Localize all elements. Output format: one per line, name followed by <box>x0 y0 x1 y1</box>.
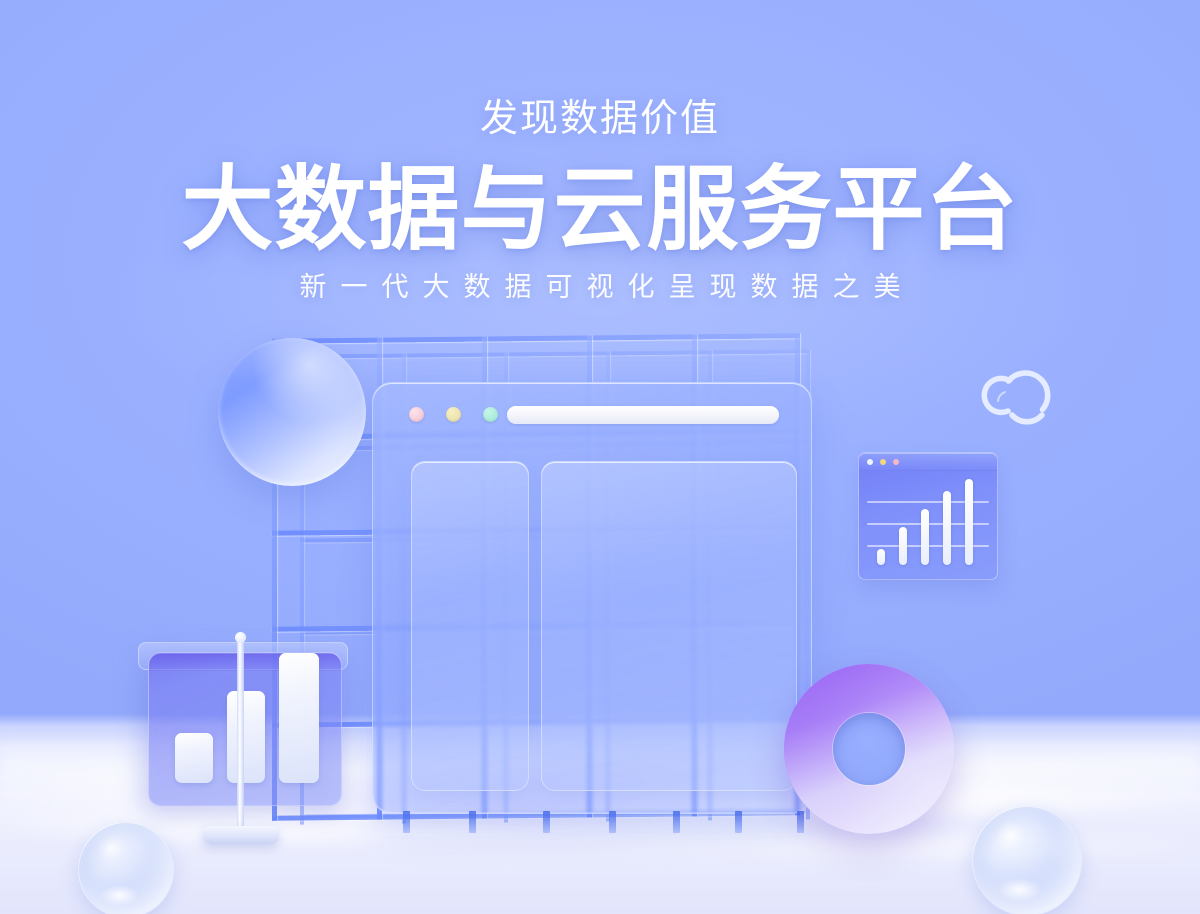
white-dot[interactable] <box>867 459 873 465</box>
sphere-highlight <box>997 878 1042 902</box>
chart-bar <box>877 549 885 565</box>
glass-sphere-left <box>78 822 174 914</box>
sidebar-panel[interactable] <box>411 461 529 791</box>
glass-disc <box>218 338 366 486</box>
pink-dot[interactable] <box>893 459 899 465</box>
chart-bar <box>965 479 973 565</box>
display-stand-cap <box>235 632 246 643</box>
dashboard-widget[interactable] <box>858 452 998 580</box>
display-stand-pole <box>237 636 244 836</box>
chart-bar <box>175 733 213 783</box>
window-foot <box>609 811 616 833</box>
browser-titlebar <box>373 383 811 445</box>
bar-chart-card[interactable] <box>148 652 342 806</box>
dashboard-widget-titlebar <box>859 453 997 471</box>
chart-bar <box>279 653 319 783</box>
address-bar[interactable] <box>507 406 779 424</box>
donut-chart[interactable] <box>784 664 954 834</box>
hero-subtitle: 新一代大数据可视化呈现数据之美 <box>0 274 1200 301</box>
cloud-icon <box>978 365 1064 427</box>
yellow-dot[interactable] <box>880 459 886 465</box>
browser-window[interactable] <box>372 382 812 814</box>
window-foot <box>673 811 680 833</box>
sphere-highlight <box>100 885 139 906</box>
window-foot <box>735 811 742 833</box>
window-foot <box>543 811 550 833</box>
chart-bar <box>943 491 951 565</box>
hero-scene: 发现数据价值 大数据与云服务平台 新一代大数据可视化呈现数据之美 <box>0 0 1200 914</box>
chart-bar <box>921 509 929 565</box>
chart-bar <box>899 527 907 565</box>
chart-bar <box>227 691 265 783</box>
display-stand-base <box>203 826 279 844</box>
window-foot <box>403 811 410 833</box>
window-foot <box>797 811 804 833</box>
content-panel[interactable] <box>541 461 797 791</box>
hero-eyebrow: 发现数据价值 <box>0 100 1200 138</box>
hero-text: 发现数据价值 大数据与云服务平台 新一代大数据可视化呈现数据之美 <box>0 0 1200 301</box>
teal-dot[interactable] <box>483 407 498 422</box>
floor-streak <box>552 834 1200 860</box>
pink-dot[interactable] <box>409 407 424 422</box>
window-foot <box>469 811 476 833</box>
yellow-dot[interactable] <box>446 407 461 422</box>
page-title: 大数据与云服务平台 <box>0 164 1200 258</box>
glass-sphere-right <box>972 806 1082 914</box>
